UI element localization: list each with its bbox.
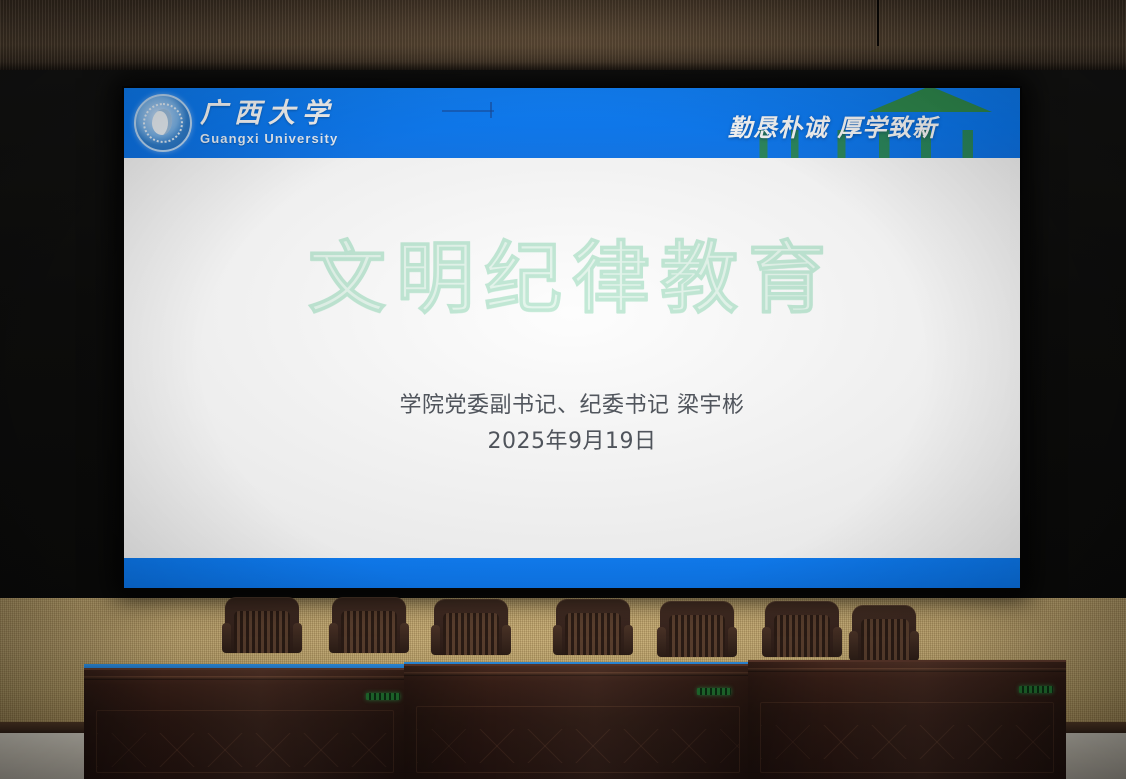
chair-arm-right <box>833 627 842 657</box>
podium-panel <box>96 710 394 773</box>
university-motto: 勤恳朴诚 厚学致新 <box>728 108 1010 143</box>
podium-panel <box>416 706 740 773</box>
university-name-cn: 广西大学 <box>200 100 338 127</box>
date-line: 2025年9月19日 <box>124 424 1020 460</box>
chair <box>434 599 508 655</box>
chair-arm-right <box>728 627 737 657</box>
podium-led-display <box>697 688 731 695</box>
university-logo: 广西大学 Guangxi University <box>134 94 338 152</box>
university-name-en: Guangxi University <box>200 131 338 146</box>
screenshot-stage: 广西大学 Guangxi University 勤恳朴诚 厚学致新 文明纪律教育… <box>0 0 1126 779</box>
chair-slats <box>861 619 909 661</box>
ceiling-seam <box>877 0 879 46</box>
chair <box>765 601 839 657</box>
header-artifact-line <box>442 110 494 112</box>
header-artifact-tick <box>490 102 492 118</box>
chair-arm-left <box>553 625 562 655</box>
slide-subtitle: 学院党委副书记、纪委书记 梁宇彬 2025年9月19日 <box>124 388 1020 459</box>
university-emblem-icon <box>134 94 192 152</box>
chair <box>556 599 630 655</box>
chair-slats <box>669 615 725 657</box>
podium-lip <box>84 676 406 680</box>
chair-slats <box>774 615 830 657</box>
slide-header-band: 广西大学 Guangxi University 勤恳朴诚 厚学致新 <box>124 88 1020 158</box>
chair <box>332 597 406 653</box>
chair-slats <box>443 613 499 655</box>
podium-diamond-inlay <box>761 725 1053 759</box>
podium-section <box>404 664 752 779</box>
chair-arm-left <box>222 623 231 653</box>
chair <box>852 605 916 661</box>
chair <box>225 597 299 653</box>
podium-diamond-inlay <box>417 729 739 763</box>
chair-arm-left <box>329 623 338 653</box>
podium-section <box>748 660 1066 779</box>
slide-title: 文明纪律教育 <box>124 240 1020 318</box>
chair-arm-right <box>293 623 302 653</box>
chair-arm-left <box>849 631 858 661</box>
presentation-slide: 广西大学 Guangxi University 勤恳朴诚 厚学致新 文明纪律教育… <box>124 88 1020 588</box>
chair-arm-right <box>502 625 511 655</box>
podium-panel <box>760 702 1054 773</box>
podium-diamond-inlay <box>97 733 393 767</box>
chair-slats <box>341 611 397 653</box>
chair-arm-right <box>910 631 919 661</box>
chair-slats <box>565 613 621 655</box>
chair-arm-left <box>657 627 666 657</box>
podium-lip <box>748 668 1066 672</box>
presenter-line: 学院党委副书记、纪委书记 梁宇彬 <box>124 388 1020 424</box>
podium-lip <box>404 672 752 676</box>
chair-slats <box>234 611 290 653</box>
slide-footer-band <box>124 558 1020 588</box>
chair-arm-right <box>624 625 633 655</box>
chair <box>660 601 734 657</box>
podium-section <box>84 668 406 779</box>
podium-led-display <box>366 693 400 700</box>
chair-arm-left <box>431 625 440 655</box>
chair-arm-right <box>400 623 409 653</box>
projection-glow <box>124 88 1020 588</box>
podium-led-display <box>1019 686 1053 693</box>
chair-arm-left <box>762 627 771 657</box>
projection-screen: 广西大学 Guangxi University 勤恳朴诚 厚学致新 文明纪律教育… <box>122 86 1022 590</box>
motto-block: 勤恳朴诚 厚学致新 <box>714 88 1014 158</box>
